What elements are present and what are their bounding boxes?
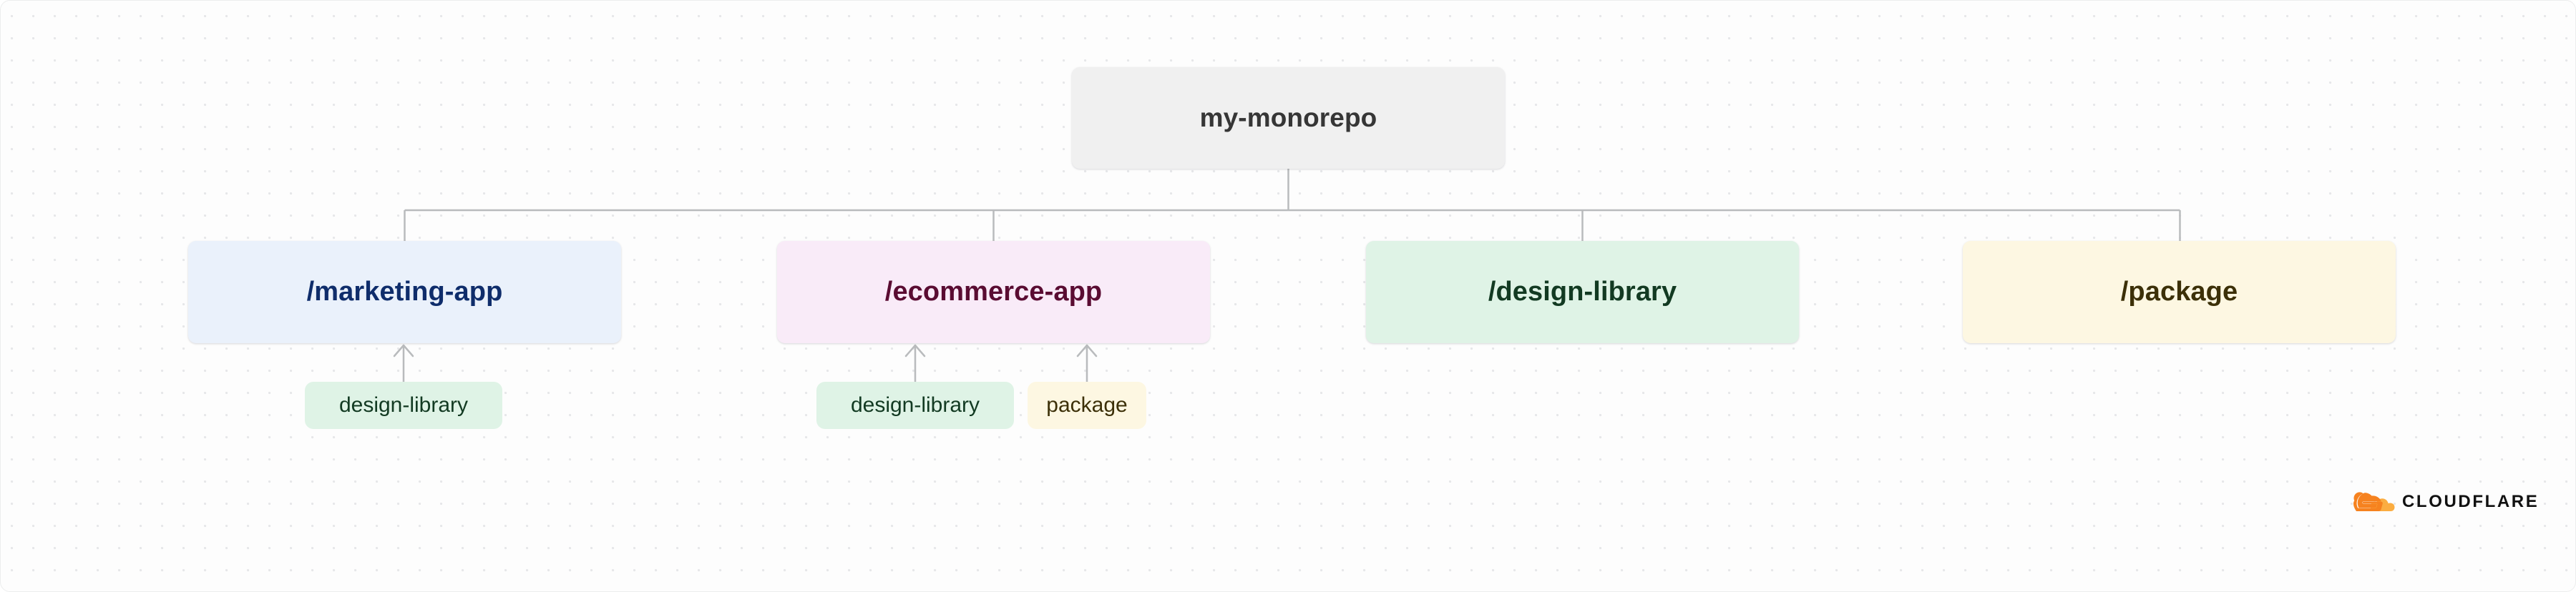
dependency-badge-marketing-design-library[interactable]: design-library — [305, 382, 502, 429]
node-marketing-app-label: /marketing-app — [307, 277, 503, 307]
node-design-library-label: /design-library — [1488, 277, 1677, 307]
dep-arrow-head-ecommerce-design — [906, 345, 924, 356]
dependency-badge-ecommerce-package[interactable]: package — [1028, 382, 1146, 429]
cloudflare-logo: CLOUDFLARE — [2353, 491, 2539, 513]
cloudflare-cloud-icon — [2353, 491, 2395, 513]
dependency-badge-label: design-library — [851, 393, 980, 418]
node-design-library[interactable]: /design-library — [1366, 241, 1799, 343]
dep-arrow-head-ecommerce-package — [1078, 345, 1096, 356]
node-root-label: my-monorepo — [1200, 103, 1377, 133]
dependency-badge-label: package — [1046, 393, 1127, 418]
dep-arrow-head-marketing-design — [394, 345, 413, 356]
node-package-label: /package — [2121, 277, 2238, 307]
cloudflare-wordmark: CLOUDFLARE — [2402, 493, 2539, 510]
node-root[interactable]: my-monorepo — [1072, 67, 1505, 169]
dependency-badge-label: design-library — [339, 393, 468, 418]
node-package[interactable]: /package — [1963, 241, 2396, 343]
node-ecommerce-app-label: /ecommerce-app — [885, 277, 1102, 307]
node-marketing-app[interactable]: /marketing-app — [188, 241, 621, 343]
diagram-canvas: my-monorepo /marketing-app /ecommerce-ap… — [0, 0, 2576, 592]
node-ecommerce-app[interactable]: /ecommerce-app — [777, 241, 1210, 343]
dependency-badge-ecommerce-design-library[interactable]: design-library — [816, 382, 1014, 429]
